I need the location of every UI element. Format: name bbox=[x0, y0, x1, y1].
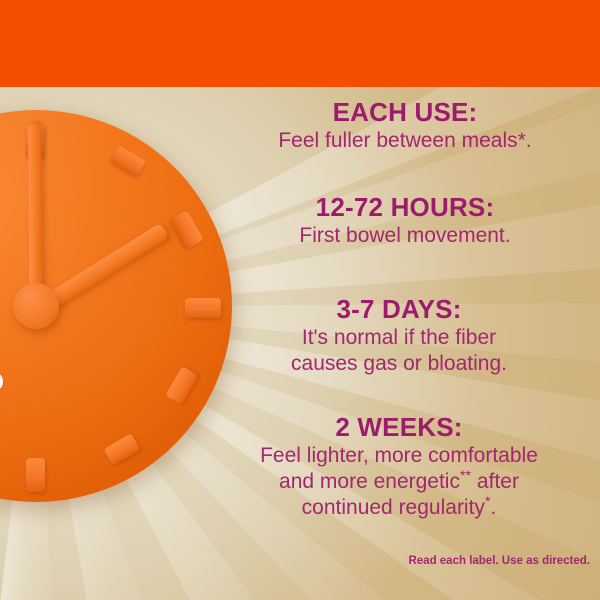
expectation-line: First bowel movement. bbox=[210, 223, 600, 249]
clock-caption: ALL GOOD THINGS TAKE TIME bbox=[0, 368, 4, 480]
clock-caption-line-3: TAKE bbox=[0, 424, 4, 452]
expectation-heading: 3-7 DAYS: bbox=[204, 294, 594, 325]
expectation-block-12-72-hours: 12-72 HOURS: First bowel movement. bbox=[210, 192, 600, 249]
expectations-list: EACH USE: Feel fuller between meals*. 12… bbox=[210, 87, 600, 600]
expectation-heading: 12-72 HOURS: bbox=[210, 192, 600, 223]
expectation-block-2-weeks: 2 WEEKS: Feel lighter, more comfortable … bbox=[204, 412, 594, 521]
expectation-line: causes gas or bloating. bbox=[204, 351, 594, 377]
infographic-canvas: ALL GOOD THINGS TAKE TIME WHAT TO EXPECT… bbox=[0, 0, 600, 600]
expectation-line-text: continued regularity bbox=[302, 496, 485, 519]
expectation-heading: EACH USE: bbox=[210, 97, 600, 128]
clock-caption-line-1: ALL GOOD bbox=[0, 368, 4, 396]
expectation-line-text-tail: . bbox=[491, 496, 497, 519]
expectation-heading: 2 WEEKS: bbox=[204, 412, 594, 443]
footnote-marker-double: ** bbox=[460, 468, 471, 484]
expectation-line-text-tail: after bbox=[471, 470, 519, 493]
expectation-line: It's normal if the fiber bbox=[204, 325, 594, 351]
clock-center-hub bbox=[13, 283, 59, 329]
expectation-line: and more energetic** after bbox=[204, 469, 594, 495]
disclaimer-text: Read each label. Use as directed. bbox=[408, 555, 590, 567]
expectation-line: Feel fuller between meals*. bbox=[210, 128, 600, 154]
expectation-line-text: and more energetic bbox=[279, 470, 460, 493]
header-band bbox=[0, 0, 600, 87]
expectation-line: continued regularity*. bbox=[204, 495, 594, 521]
clock-caption-line-2: THINGS bbox=[0, 396, 4, 424]
clock-caption-line-4: TIME bbox=[0, 452, 4, 480]
expectation-line: Feel lighter, more comfortable bbox=[204, 443, 594, 469]
clock-minute-hand bbox=[28, 124, 43, 306]
clock-tick-6 bbox=[26, 458, 45, 492]
expectation-block-3-7-days: 3-7 DAYS: It's normal if the fiber cause… bbox=[204, 294, 594, 377]
expectation-block-each-use: EACH USE: Feel fuller between meals*. bbox=[210, 97, 600, 154]
